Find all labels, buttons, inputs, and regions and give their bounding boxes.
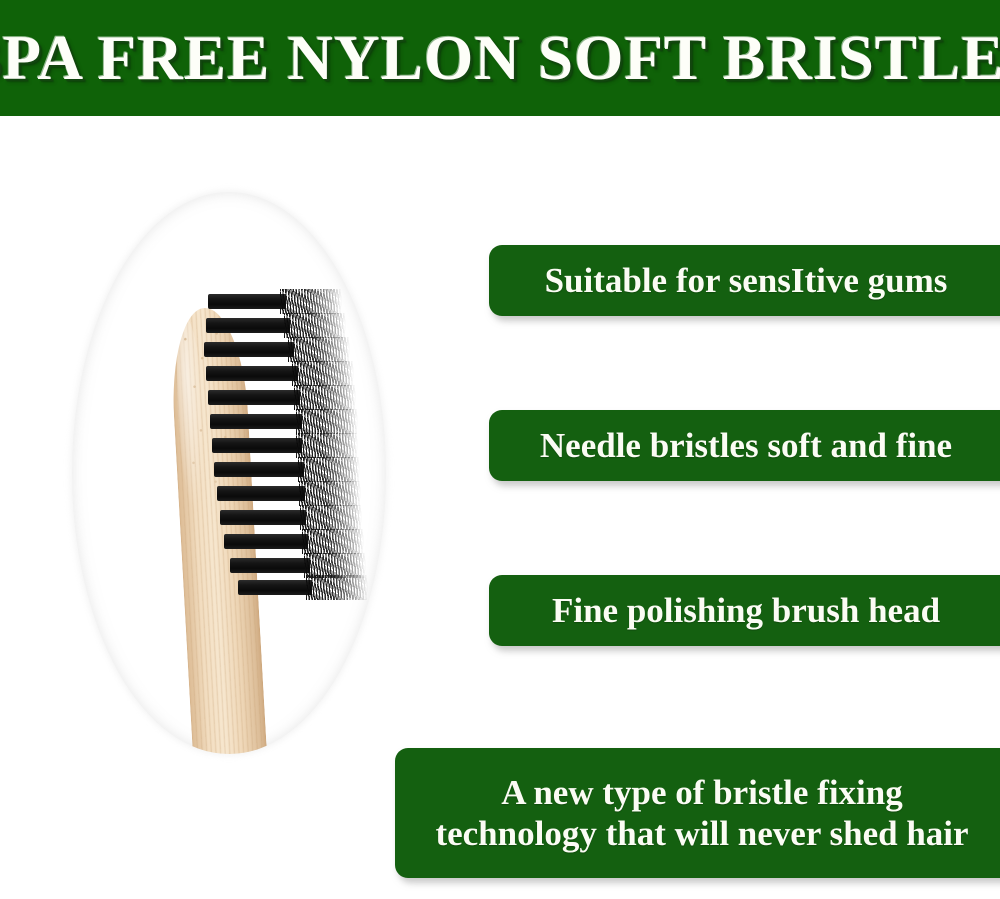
- bristle-tuft-row: [230, 558, 310, 573]
- feature-label-3: Fine polishing brush head: [552, 590, 966, 631]
- bristle-tuft-row: [212, 438, 302, 453]
- feature-box-1[interactable]: Suitable for sensItive gums: [489, 245, 1000, 316]
- bristle-tuft-row: [206, 366, 298, 381]
- bristle-tufts: [204, 288, 386, 618]
- bristle-tuft-row: [224, 534, 308, 549]
- bristle-tuft-row: [238, 580, 312, 595]
- bristle-tuft-row: [206, 318, 290, 333]
- feature-box-4[interactable]: A new type of bristle fixing technology …: [395, 748, 1000, 878]
- bristle-tuft-row: [204, 342, 294, 357]
- bristle-tuft-row: [208, 294, 286, 309]
- feature-box-3[interactable]: Fine polishing brush head: [489, 575, 1000, 646]
- bristle-tuft-row: [208, 390, 300, 405]
- bristle-tuft-row: [210, 414, 302, 429]
- infographic-page: BPA FREE NYLON SOFT BRISTLES Suitable fo…: [0, 0, 1000, 899]
- oval-vignette: [72, 192, 386, 754]
- product-image: [58, 176, 418, 764]
- feature-box-2[interactable]: Needle bristles soft and fine: [489, 410, 1000, 481]
- feature-label-4: A new type of bristle fixing technology …: [435, 772, 988, 855]
- bristle-tuft-row: [217, 486, 305, 501]
- header-banner: BPA FREE NYLON SOFT BRISTLES: [0, 0, 1000, 116]
- feature-label-2: Needle bristles soft and fine: [540, 425, 978, 466]
- bristle-tuft-row: [220, 510, 306, 525]
- page-title: BPA FREE NYLON SOFT BRISTLES: [5, 0, 995, 116]
- bristle-tuft-row: [214, 462, 304, 477]
- feature-label-1: Suitable for sensItive gums: [545, 260, 974, 301]
